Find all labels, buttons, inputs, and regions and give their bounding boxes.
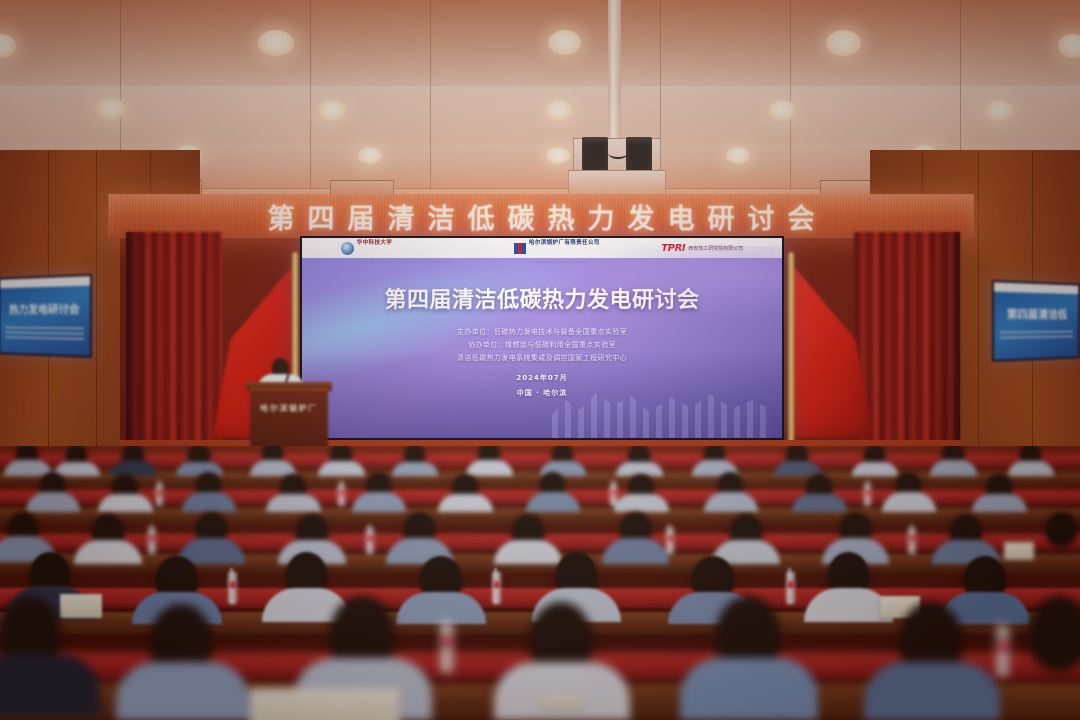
ceiling-downlight (318, 100, 346, 121)
ceiling-downlight (545, 100, 573, 121)
ceiling-downlight (258, 30, 294, 56)
ceiling-panel-band-1 (0, 0, 1080, 87)
led-banner: 第四届清洁低碳热力发电研讨会 (108, 194, 975, 238)
podium-label: 哈尔滨锅炉厂 (250, 403, 328, 414)
ceiling-downlight (96, 98, 126, 120)
projector-icon (582, 137, 608, 173)
curtain-shadow-left (126, 232, 152, 468)
ceiling-downlight (826, 30, 861, 56)
slide-content: 华中科技大学 HUAZHONG UNIVERSITY OF SCIENCE AN… (302, 238, 782, 438)
ceiling-panel-band-2 (0, 86, 1080, 145)
main-projection-screen: 华中科技大学 HUAZHONG UNIVERSITY OF SCIENCE AN… (300, 236, 784, 440)
side-screen-right: 第四届清洁低 (992, 280, 1080, 362)
conference-hall-photo: 第四届清洁低碳热力发电研讨会 华中科技大学 HUAZHONG UNIVERSIT… (0, 0, 1080, 720)
side-screen-left-logo-bar (0, 276, 90, 288)
banner-title: 第四届清洁低碳热力发电研讨会 (254, 197, 827, 236)
slide-coorganizer-line-2: 清洁低碳热力发电系统集成及调控国家工程研究中心 (302, 352, 782, 365)
ceiling-downlight (1058, 34, 1080, 58)
audience-area (0, 446, 1080, 720)
slide-title: 第四届清洁低碳热力发电研讨会 (302, 282, 782, 314)
curtain-shadow-right (934, 232, 960, 468)
side-screen-left: 热力发电研讨会 (0, 274, 92, 358)
side-screen-left-title: 热力发电研讨会 (0, 300, 90, 317)
slide-meta: 2024年07月 中国 · 哈尔滨 (302, 371, 782, 400)
hust-seal-icon (341, 242, 354, 255)
side-screen-right-logo-bar (994, 282, 1078, 294)
ceiling-downlight (546, 147, 570, 164)
ceiling-downlight (548, 30, 581, 55)
slide-coorganizer-line: 协办单位：煤燃烧与低碳利用全国重点实验室 (302, 339, 782, 352)
ceiling-downlight (358, 147, 382, 164)
slide-date: 2024年07月 (302, 371, 782, 386)
projector-mount-pole (608, 0, 621, 142)
ceiling-downlight (726, 147, 750, 164)
ceiling-downlight (985, 100, 1013, 121)
projector-housing (573, 138, 661, 174)
slide-organizer-line: 主办单位：低碳热力发电技术与装备全国重点实验室 (302, 326, 782, 339)
side-screen-left-lines (5, 323, 84, 342)
projector-icon (626, 137, 652, 173)
chinese-flag-right (778, 252, 874, 448)
slide-organizers: 主办单位：低碳热力发电技术与装备全国重点实验室 协办单位：煤燃烧与低碳利用全国重… (302, 326, 782, 365)
slide-location: 中国 · 哈尔滨 (302, 386, 782, 401)
projector-mount-base (568, 170, 666, 196)
side-screen-right-lines (1000, 328, 1074, 342)
logo-hust-label: 华中科技大学 (357, 240, 392, 246)
ceiling-downlight (768, 100, 796, 121)
side-screen-right-title: 第四届清洁低 (994, 305, 1078, 322)
